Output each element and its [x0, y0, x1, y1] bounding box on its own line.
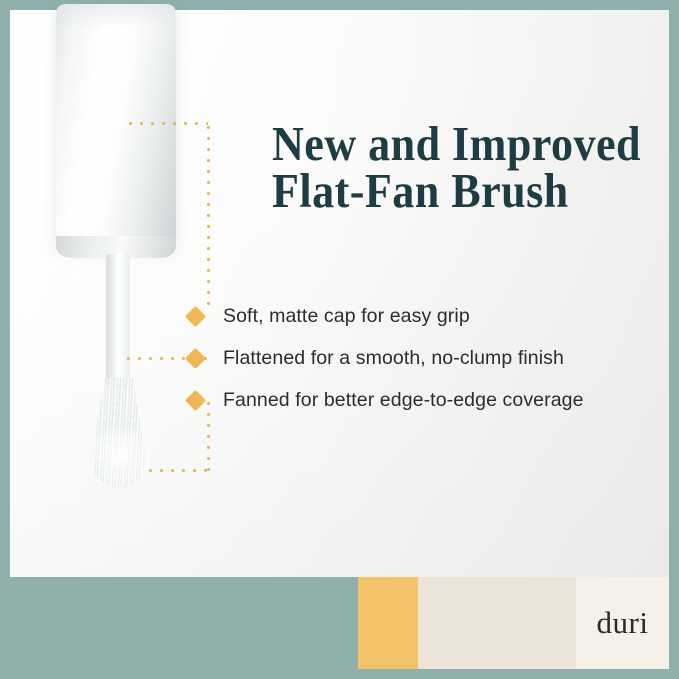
feature-text: Fanned for better edge-to-edge coverage: [223, 389, 584, 412]
list-item: Fanned for better edge-to-edge coverage: [188, 380, 656, 420]
diamond-bullet-icon: [185, 347, 206, 368]
brush-bristles: [90, 378, 148, 488]
diamond-bullet-icon: [185, 389, 206, 410]
brush-cap: [56, 4, 176, 250]
feature-list: Soft, matte cap for easy grip Flattened …: [188, 296, 656, 422]
brand-logo-text: duri: [597, 605, 649, 641]
list-item: Soft, matte cap for easy grip: [188, 296, 656, 336]
page-title: New and Improved Flat-Fan Brush: [272, 120, 623, 214]
brand-logo-panel: duri: [576, 577, 669, 669]
nail-polish-brush-photo: [32, 10, 202, 510]
diamond-bullet-icon: [185, 305, 206, 326]
feature-text: Flattened for a smooth, no-clump finish: [223, 347, 564, 370]
callout-line-cap-horizontal: [125, 122, 208, 125]
swatch-teal: [10, 577, 358, 669]
callout-line-vertical-upper: [207, 122, 210, 312]
swatch-sand: [418, 577, 576, 669]
brush-cap-highlight: [56, 4, 176, 28]
feature-text: Soft, matte cap for easy grip: [223, 305, 470, 328]
product-feature-poster: New and Improved Flat-Fan Brush Soft, ma…: [0, 0, 679, 679]
list-item: Flattened for a smooth, no-clump finish: [188, 338, 656, 378]
swatch-gold: [358, 577, 418, 669]
frame-border-right: [669, 0, 679, 679]
headline-line-1: New and Improved: [272, 120, 623, 167]
brush-stem-shading: [106, 254, 130, 384]
frame-border-left: [0, 0, 10, 679]
photo-canvas: [10, 10, 669, 577]
callout-line-bristles-horizontal: [145, 469, 208, 472]
color-swatch-footer: duri: [10, 577, 669, 669]
headline-line-2: Flat-Fan Brush: [272, 167, 623, 214]
frame-border-bottom: [0, 669, 679, 679]
